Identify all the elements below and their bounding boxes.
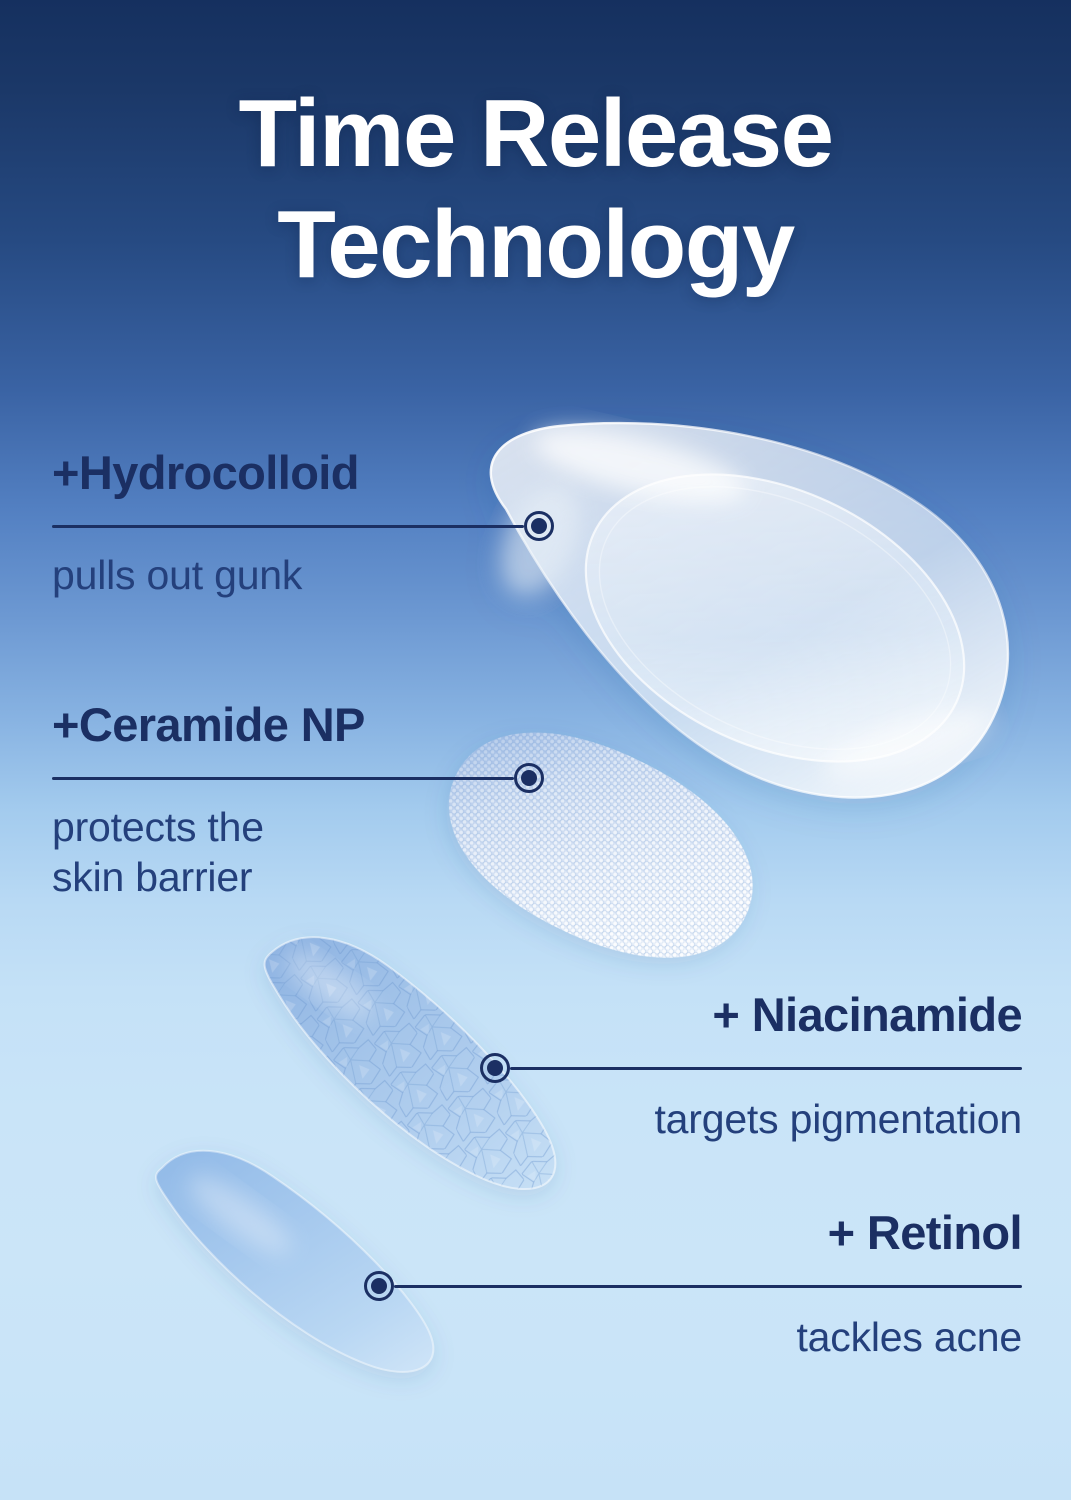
leader-rule bbox=[394, 1285, 1022, 1288]
leader-line-niacinamide bbox=[480, 1053, 1022, 1083]
callout-label-hydrocolloid: +Hydrocolloid bbox=[52, 448, 554, 497]
callout-sub-ceramide: protects the skin barrier bbox=[52, 803, 544, 901]
callout-niacinamide: + Niacinamide targets pigmentation bbox=[480, 990, 1022, 1145]
callout-sub-niacinamide: targets pigmentation bbox=[480, 1095, 1022, 1144]
callout-label-ceramide: +Ceramide NP bbox=[52, 700, 544, 749]
page-title: Time Release Technology bbox=[0, 78, 1071, 301]
leader-line-retinol bbox=[364, 1271, 1022, 1301]
hydrocolloid-patch-icon bbox=[485, 415, 1010, 818]
callout-hydrocolloid: +Hydrocolloid pulls out gunk bbox=[52, 448, 554, 601]
callout-label-niacinamide: + Niacinamide bbox=[480, 990, 1022, 1039]
leader-rule bbox=[52, 777, 514, 780]
callout-retinol: + Retinol tackles acne bbox=[364, 1208, 1022, 1363]
callout-sub-hydrocolloid: pulls out gunk bbox=[52, 551, 554, 600]
leader-line-hydrocolloid bbox=[52, 511, 554, 541]
callout-label-retinol: + Retinol bbox=[364, 1208, 1022, 1257]
target-dot-icon bbox=[514, 763, 544, 793]
leader-line-ceramide bbox=[52, 763, 544, 793]
target-dot-icon bbox=[524, 511, 554, 541]
leader-rule bbox=[52, 525, 524, 528]
callout-sub-retinol: tackles acne bbox=[364, 1313, 1022, 1362]
target-dot-icon bbox=[480, 1053, 510, 1083]
callout-ceramide: +Ceramide NP protects the skin barrier bbox=[52, 700, 544, 902]
infographic-canvas: Time Release Technology +Hydrocolloid pu… bbox=[0, 0, 1071, 1500]
leader-rule bbox=[510, 1067, 1022, 1070]
target-dot-icon bbox=[364, 1271, 394, 1301]
